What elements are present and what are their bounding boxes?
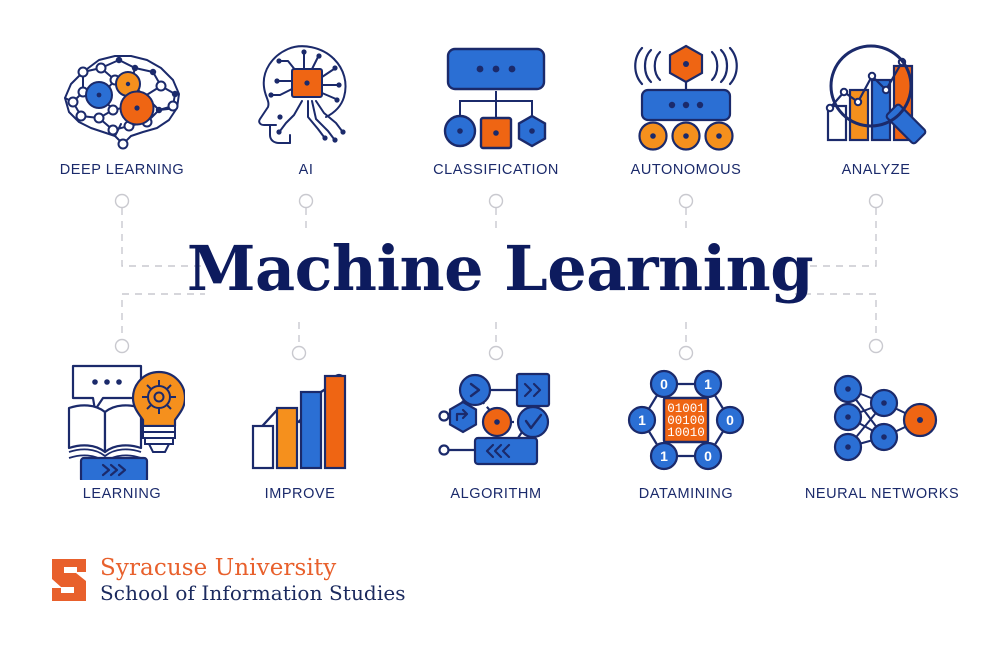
binary-line-3: 10010 [667, 426, 705, 440]
classification-tree-icon [436, 41, 556, 151]
item-label: DEEP LEARNING [32, 162, 212, 178]
item-label: ANALYZE [786, 162, 966, 178]
connector-dot-autonomous [680, 195, 693, 208]
item-label: NEURAL NETWORKS [792, 486, 972, 502]
book-bulb-icon [59, 360, 185, 480]
item-label: ALGORITHM [406, 486, 586, 502]
icon-box: 01001 00100 10010 0 1 0 0 1 [596, 360, 776, 480]
node-digit-1: 1 [704, 376, 712, 392]
ai-head-chip-icon [246, 39, 366, 154]
magnifier-chart-icon [814, 40, 938, 152]
item-label: CLASSIFICATION [406, 162, 586, 178]
item-improve[interactable]: IMPROVE [210, 360, 390, 502]
node-digit-3: 0 [704, 448, 712, 464]
syracuse-logo[interactable]: Syracuse University School of Informatio… [48, 555, 406, 605]
connector-dot-datamining [680, 347, 693, 360]
item-label: LEARNING [32, 486, 212, 502]
item-deep-learning[interactable]: DEEP LEARNING [32, 36, 212, 178]
node-digit-4: 1 [660, 448, 668, 464]
node-digit-5: 1 [638, 412, 646, 428]
item-classification[interactable]: CLASSIFICATION [406, 36, 586, 178]
logo-school-name: School of Information Studies [100, 582, 406, 604]
syracuse-block-s-icon [48, 555, 90, 605]
connector-dot-ai [300, 195, 313, 208]
connector-dot-neural-networks [870, 340, 883, 353]
algorithm-flow-icon [431, 364, 561, 476]
item-analyze[interactable]: ANALYZE [786, 36, 966, 178]
icon-box [786, 36, 966, 156]
icon-box [406, 36, 586, 156]
icon-box [596, 36, 776, 156]
item-datamining[interactable]: 01001 00100 10010 0 1 0 0 1 [596, 360, 776, 502]
autonomous-robot-icon [624, 40, 748, 152]
connector-dot-classification [490, 195, 503, 208]
item-label: AUTONOMOUS [596, 162, 776, 178]
page-title: Machine Learning [0, 238, 1000, 300]
connector-dot-deep-learning [116, 195, 129, 208]
node-digit-0: 0 [660, 376, 668, 392]
icon-box [32, 360, 212, 480]
item-learning[interactable]: LEARNING [32, 360, 212, 502]
datamining-binary-icon: 01001 00100 10010 0 1 0 0 1 [626, 364, 746, 476]
connector-dot-algorithm [490, 347, 503, 360]
icon-box [792, 360, 972, 480]
item-algorithm[interactable]: ALGORITHM [406, 360, 586, 502]
icon-box [216, 36, 396, 156]
item-neural-networks[interactable]: NEURAL NETWORKS [792, 360, 972, 502]
neural-network-icon [822, 365, 942, 475]
connector-dot-improve [293, 347, 306, 360]
item-label: DATAMINING [596, 486, 776, 502]
logo-text: Syracuse University School of Informatio… [100, 556, 406, 604]
logo-university-name: Syracuse University [100, 556, 406, 582]
infographic-canvas: Machine Learning [0, 0, 1000, 667]
item-ai[interactable]: AI [216, 36, 396, 178]
connector-dot-learning [116, 340, 129, 353]
node-digit-2: 0 [726, 412, 734, 428]
icon-box [32, 36, 212, 156]
icon-box [210, 360, 390, 480]
growth-bars-icon [245, 364, 355, 476]
icon-box [406, 360, 586, 480]
connector-dot-analyze [870, 195, 883, 208]
item-label: AI [216, 162, 396, 178]
item-label: IMPROVE [210, 486, 390, 502]
brain-network-icon [57, 40, 187, 152]
item-autonomous[interactable]: AUTONOMOUS [596, 36, 776, 178]
